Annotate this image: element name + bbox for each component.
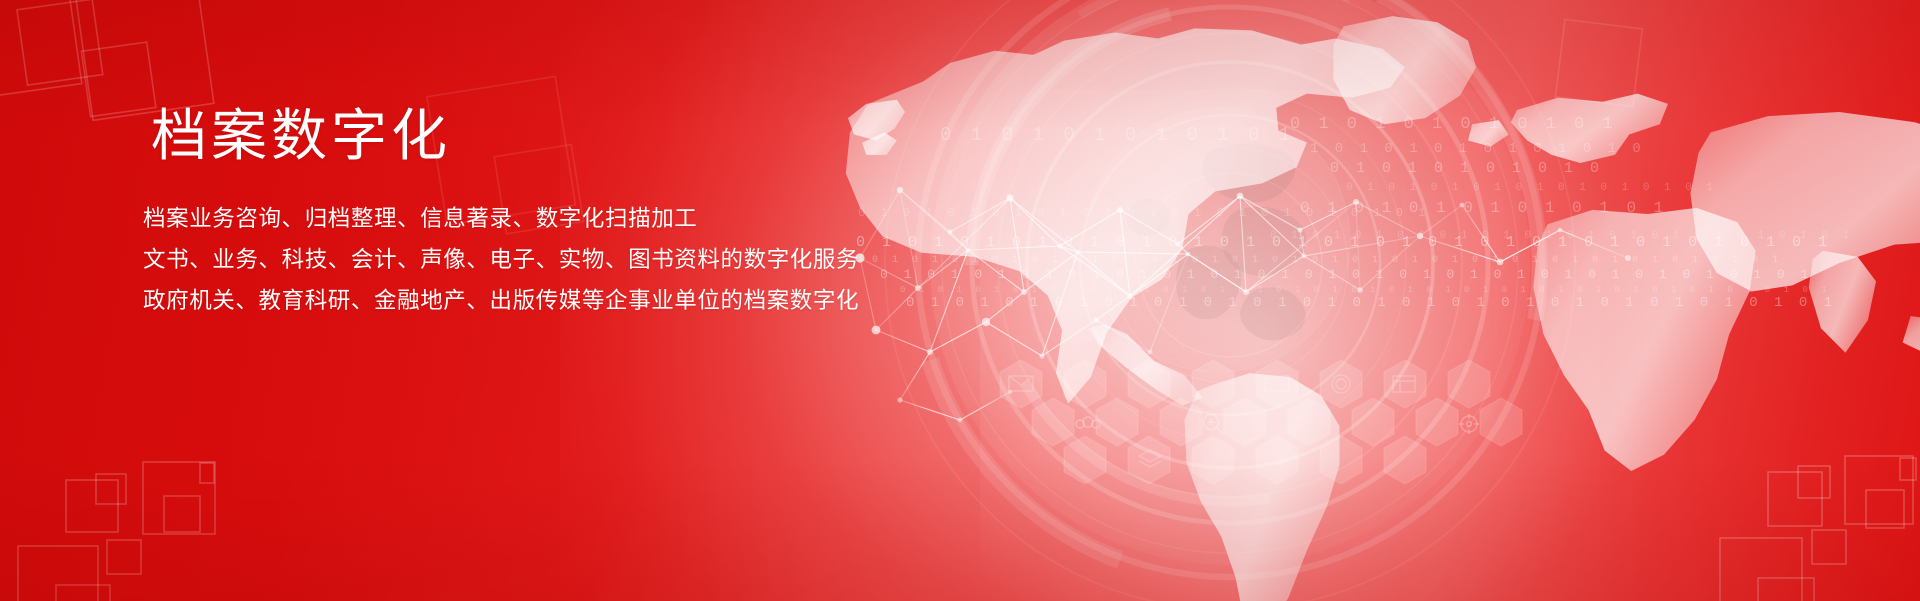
- subtitle-line-3: 政府机关、教育科研、金融地产、出版传媒等企事业单位的档案数字化: [143, 280, 883, 321]
- page-title: 档案数字化: [151, 108, 883, 164]
- banner-copy: 档案数字化 档案业务咨询、归档整理、信息著录、数字化扫描加工 文书、业务、科技、…: [143, 108, 883, 321]
- subtitle-line-1: 档案业务咨询、归档整理、信息著录、数字化扫描加工: [143, 198, 883, 239]
- subtitle-line-2: 文书、业务、科技、会计、声像、电子、实物、图书资料的数字化服务: [143, 239, 883, 280]
- banner-root: 0 1 0 1 0 1 0 1 0 1 0 1 0 1 0 1 0 1 0 1 …: [0, 0, 1920, 601]
